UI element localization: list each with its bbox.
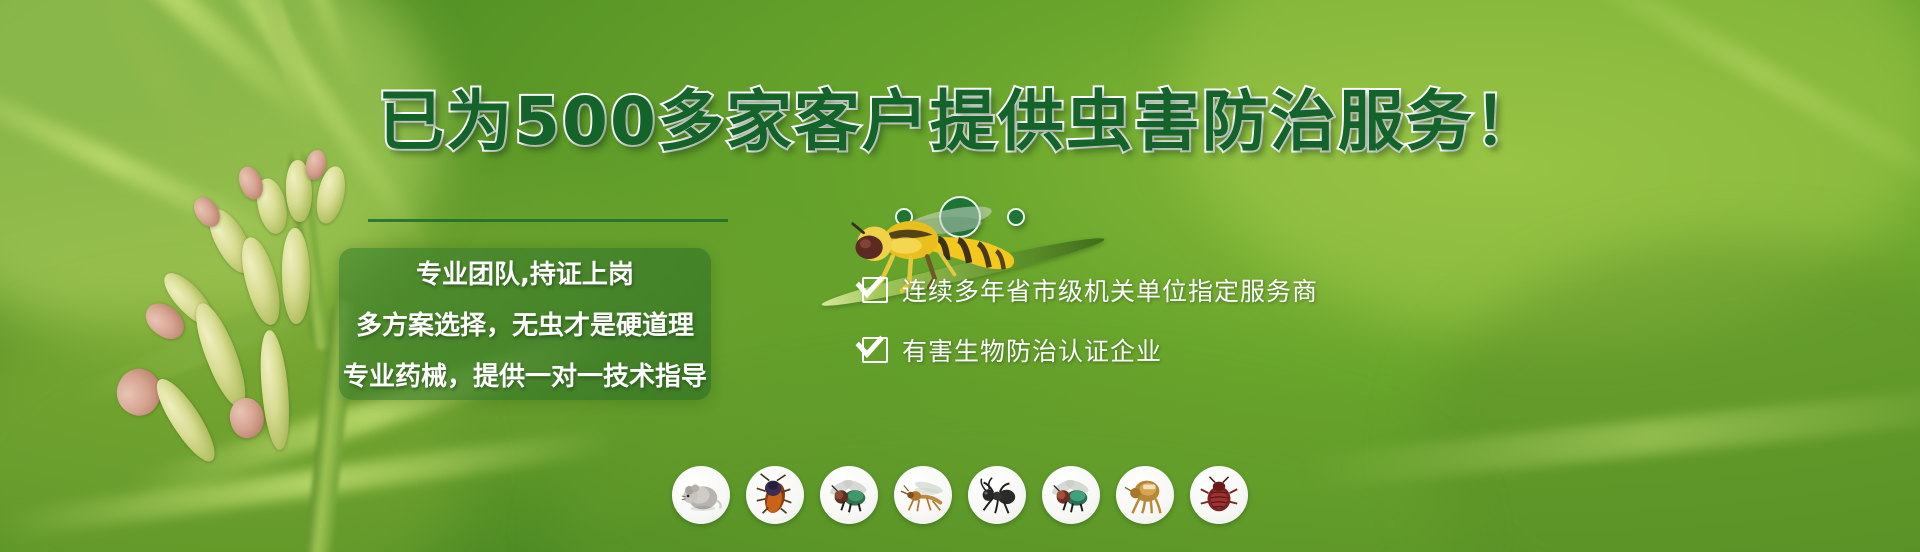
check-icon: [862, 337, 888, 363]
check-icon: [862, 277, 888, 303]
page-title: 已为500多家客户提供虫害防治服务！: [0, 68, 1920, 164]
checklist-label-0: 连续多年省市级机关单位指定服务商: [902, 272, 1318, 308]
features-panel: 专业团队,持证上岗 多方案选择，无虫才是硬道理 专业药械，提供一对一技术指导: [339, 248, 711, 400]
divider-rule: [368, 219, 728, 222]
fly-icon[interactable]: [820, 466, 878, 524]
list-item: 有害生物防治认证企业: [862, 332, 1502, 368]
panel-line-1: 专业团队,持证上岗: [339, 254, 711, 291]
headline-text: 已为500多家客户提供虫害防治服务！: [378, 83, 1542, 160]
certification-checklist: 连续多年省市级机关单位指定服务商 有害生物防治认证企业: [862, 272, 1502, 392]
cockroach-icon[interactable]: [746, 466, 804, 524]
blowfly-icon[interactable]: [1042, 466, 1100, 524]
flea-icon[interactable]: [1116, 466, 1174, 524]
checklist-label-1: 有害生物防治认证企业: [902, 332, 1162, 368]
list-item: 连续多年省市级机关单位指定服务商: [862, 272, 1502, 308]
pest-icon-row: [0, 466, 1920, 524]
bedbug-icon[interactable]: [1190, 466, 1248, 524]
panel-line-3: 专业药械，提供一对一技术指导: [339, 356, 711, 393]
mouse-icon[interactable]: [672, 466, 730, 524]
pest-control-banner: 已为500多家客户提供虫害防治服务！ 专业团队,持证上岗 多方案选择，无虫才是硬…: [0, 0, 1920, 552]
panel-line-2: 多方案选择，无虫才是硬道理: [339, 305, 711, 342]
ant-icon[interactable]: [968, 466, 1026, 524]
mosquito-icon[interactable]: [894, 466, 952, 524]
